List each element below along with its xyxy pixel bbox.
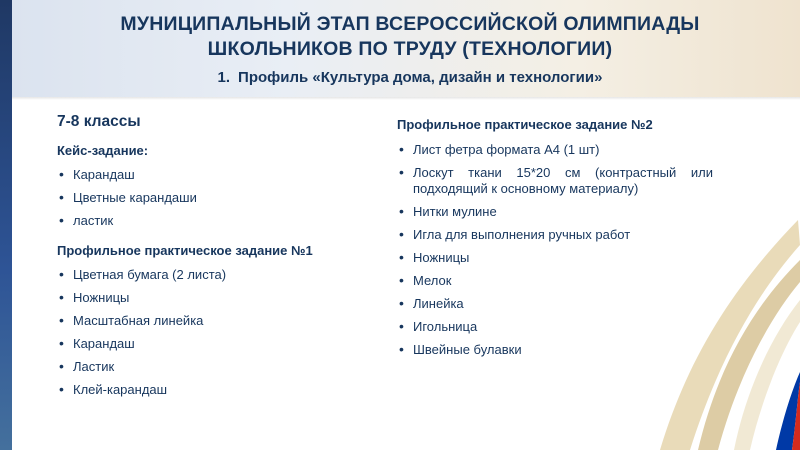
grade-range-heading: 7-8 классы xyxy=(57,113,387,131)
task1-list: Цветная бумага (2 листа) Ножницы Масштаб… xyxy=(57,267,387,398)
title-band-shadow xyxy=(12,97,800,100)
list-item: Ластик xyxy=(57,359,387,375)
list-item: Игла для выполнения ручных работ xyxy=(397,227,717,243)
slide: МУНИЦИПАЛЬНЫЙ ЭТАП ВСЕРОССИЙСКОЙ ОЛИМПИА… xyxy=(0,0,800,450)
list-item: Линейка xyxy=(397,296,717,312)
task2-heading: Профильное практическое задание №2 xyxy=(397,117,717,132)
list-item: Мелок xyxy=(397,273,717,289)
list-item: Нитки мулине xyxy=(397,204,717,220)
list-item: Швейные булавки xyxy=(397,342,717,358)
list-item: Масштабная линейка xyxy=(57,313,387,329)
subtitle-text: Профиль «Культура дома, дизайн и техноло… xyxy=(238,69,602,86)
title-line-1: МУНИЦИПАЛЬНЫЙ ЭТАП ВСЕРОССИЙСКОЙ ОЛИМПИА… xyxy=(60,12,760,37)
list-item: Ножницы xyxy=(397,250,717,266)
list-item: Игольница xyxy=(397,319,717,335)
list-item: Клей-карандаш xyxy=(57,382,387,398)
slide-content: 7-8 классы Кейс-задание: Карандаш Цветны… xyxy=(12,103,800,450)
case-task-heading: Кейс-задание: xyxy=(57,143,387,158)
task1-heading: Профильное практическое задание №1 xyxy=(57,243,387,258)
list-item: Лист фетра формата А4 (1 шт) xyxy=(397,142,717,158)
list-item: Цветные карандаши xyxy=(57,190,387,206)
left-column: 7-8 классы Кейс-задание: Карандаш Цветны… xyxy=(57,113,387,405)
left-accent-bar xyxy=(0,0,12,450)
list-item: Лоскут ткани 15*20 см (контрастный или п… xyxy=(397,165,717,197)
slide-title: МУНИЦИПАЛЬНЫЙ ЭТАП ВСЕРОССИЙСКОЙ ОЛИМПИА… xyxy=(60,12,760,86)
subtitle-number: 1. xyxy=(218,69,231,86)
list-item: Карандаш xyxy=(57,336,387,352)
slide-subtitle: 1.Профиль «Культура дома, дизайн и техно… xyxy=(60,69,760,86)
list-item: ластик xyxy=(57,213,387,229)
list-item: Карандаш xyxy=(57,167,387,183)
list-item: Цветная бумага (2 листа) xyxy=(57,267,387,283)
task2-list: Лист фетра формата А4 (1 шт) Лоскут ткан… xyxy=(397,142,717,358)
title-line-2: ШКОЛЬНИКОВ ПО ТРУДУ (ТЕХНОЛОГИИ) xyxy=(60,37,760,62)
list-item: Ножницы xyxy=(57,290,387,306)
right-column: Профильное практическое задание №2 Лист … xyxy=(397,117,717,365)
case-task-list: Карандаш Цветные карандаши ластик xyxy=(57,167,387,229)
